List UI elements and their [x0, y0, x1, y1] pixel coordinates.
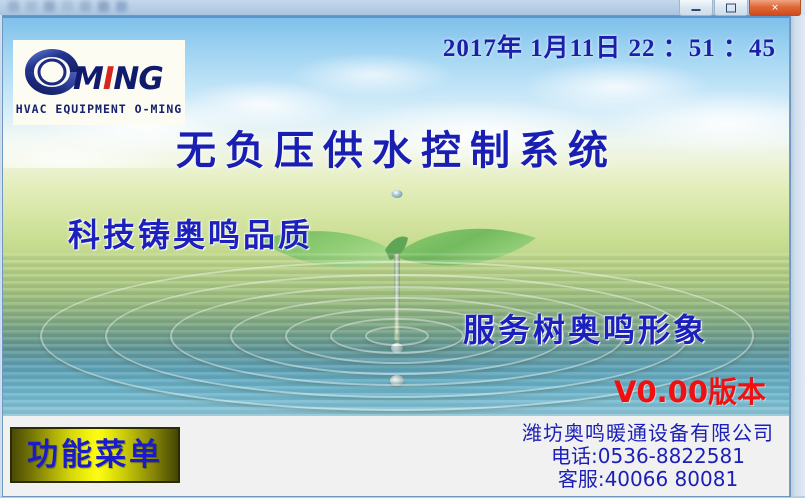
toolbar-icon-2 [26, 1, 37, 12]
application-window: ✕ [0, 0, 805, 498]
sprout-plant-icon [252, 194, 542, 344]
minimize-icon [692, 9, 701, 11]
toolbar-icon-5 [80, 1, 91, 12]
logo-wordmark-m: M [73, 61, 103, 97]
version-label: V0.00版本 [614, 378, 766, 407]
close-button[interactable]: ✕ [749, 0, 801, 16]
company-logo-panel: MING HVAC EQUIPMENT O-MING [13, 40, 185, 125]
bottom-panel: 功能菜单 潍坊奥鸣暖通设备有限公司 电话:0536-8822581 客服:400… [3, 416, 790, 496]
logo-wordmark: MING [73, 64, 163, 95]
logo-wordmark-ng: NG [113, 61, 162, 97]
ripple-ring-7 [40, 261, 754, 411]
toolbar-icon-4 [62, 1, 73, 12]
company-contact-info: 潍坊奥鸣暖通设备有限公司 电话:0536-8822581 客服:40066 80… [522, 422, 774, 490]
logo-wordmark-i: I [103, 61, 114, 97]
close-icon: ✕ [771, 3, 779, 12]
ripple-ring-5 [170, 286, 624, 386]
water-drop-mid-icon [391, 343, 403, 353]
page-title: 无负压供水控制系统 [176, 131, 617, 171]
maximize-icon [726, 3, 736, 12]
maximize-button[interactable] [714, 0, 748, 16]
company-service-hotline: 客服:40066 80081 [522, 468, 774, 491]
company-name: 潍坊奥鸣暖通设备有限公司 [522, 422, 774, 445]
top-water-drop-icon [391, 190, 402, 198]
ripple-ring-1 [365, 326, 429, 346]
ripple-ring-2 [330, 318, 464, 354]
ripple-ring-6 [105, 274, 689, 398]
datetime-display: 2017年 1月11日 22 ：51 ：45 [443, 36, 776, 61]
water-ripple-bands [3, 253, 790, 416]
toolbar-icon-3 [44, 1, 55, 12]
company-phone: 电话:0536-8822581 [522, 445, 774, 468]
logo-tagline: HVAC EQUIPMENT O-MING [13, 102, 185, 116]
window-controls: ✕ [679, 0, 801, 15]
function-menu-button-label: 功能菜单 [27, 440, 163, 471]
splash-scene: MING HVAC EQUIPMENT O-MING 2017年 1月11日 2… [3, 16, 790, 416]
window-frame-right [789, 0, 805, 498]
toolbar-icon-1 [8, 1, 19, 12]
water-drop-low-icon [390, 375, 404, 386]
background-toolbar-icons [8, 1, 228, 13]
function-menu-button[interactable]: 功能菜单 [10, 427, 180, 483]
ripple-ring-4 [230, 297, 564, 375]
window-frame-left [0, 15, 3, 498]
slogan-left: 科技铸奥鸣品质 [68, 219, 313, 251]
minimize-button[interactable] [679, 0, 713, 16]
toolbar-icon-6 [98, 1, 109, 12]
ripple-ring-3 [285, 308, 509, 364]
toolbar-icon-7 [116, 1, 127, 12]
slogan-right: 服务树奥鸣形象 [463, 314, 708, 346]
